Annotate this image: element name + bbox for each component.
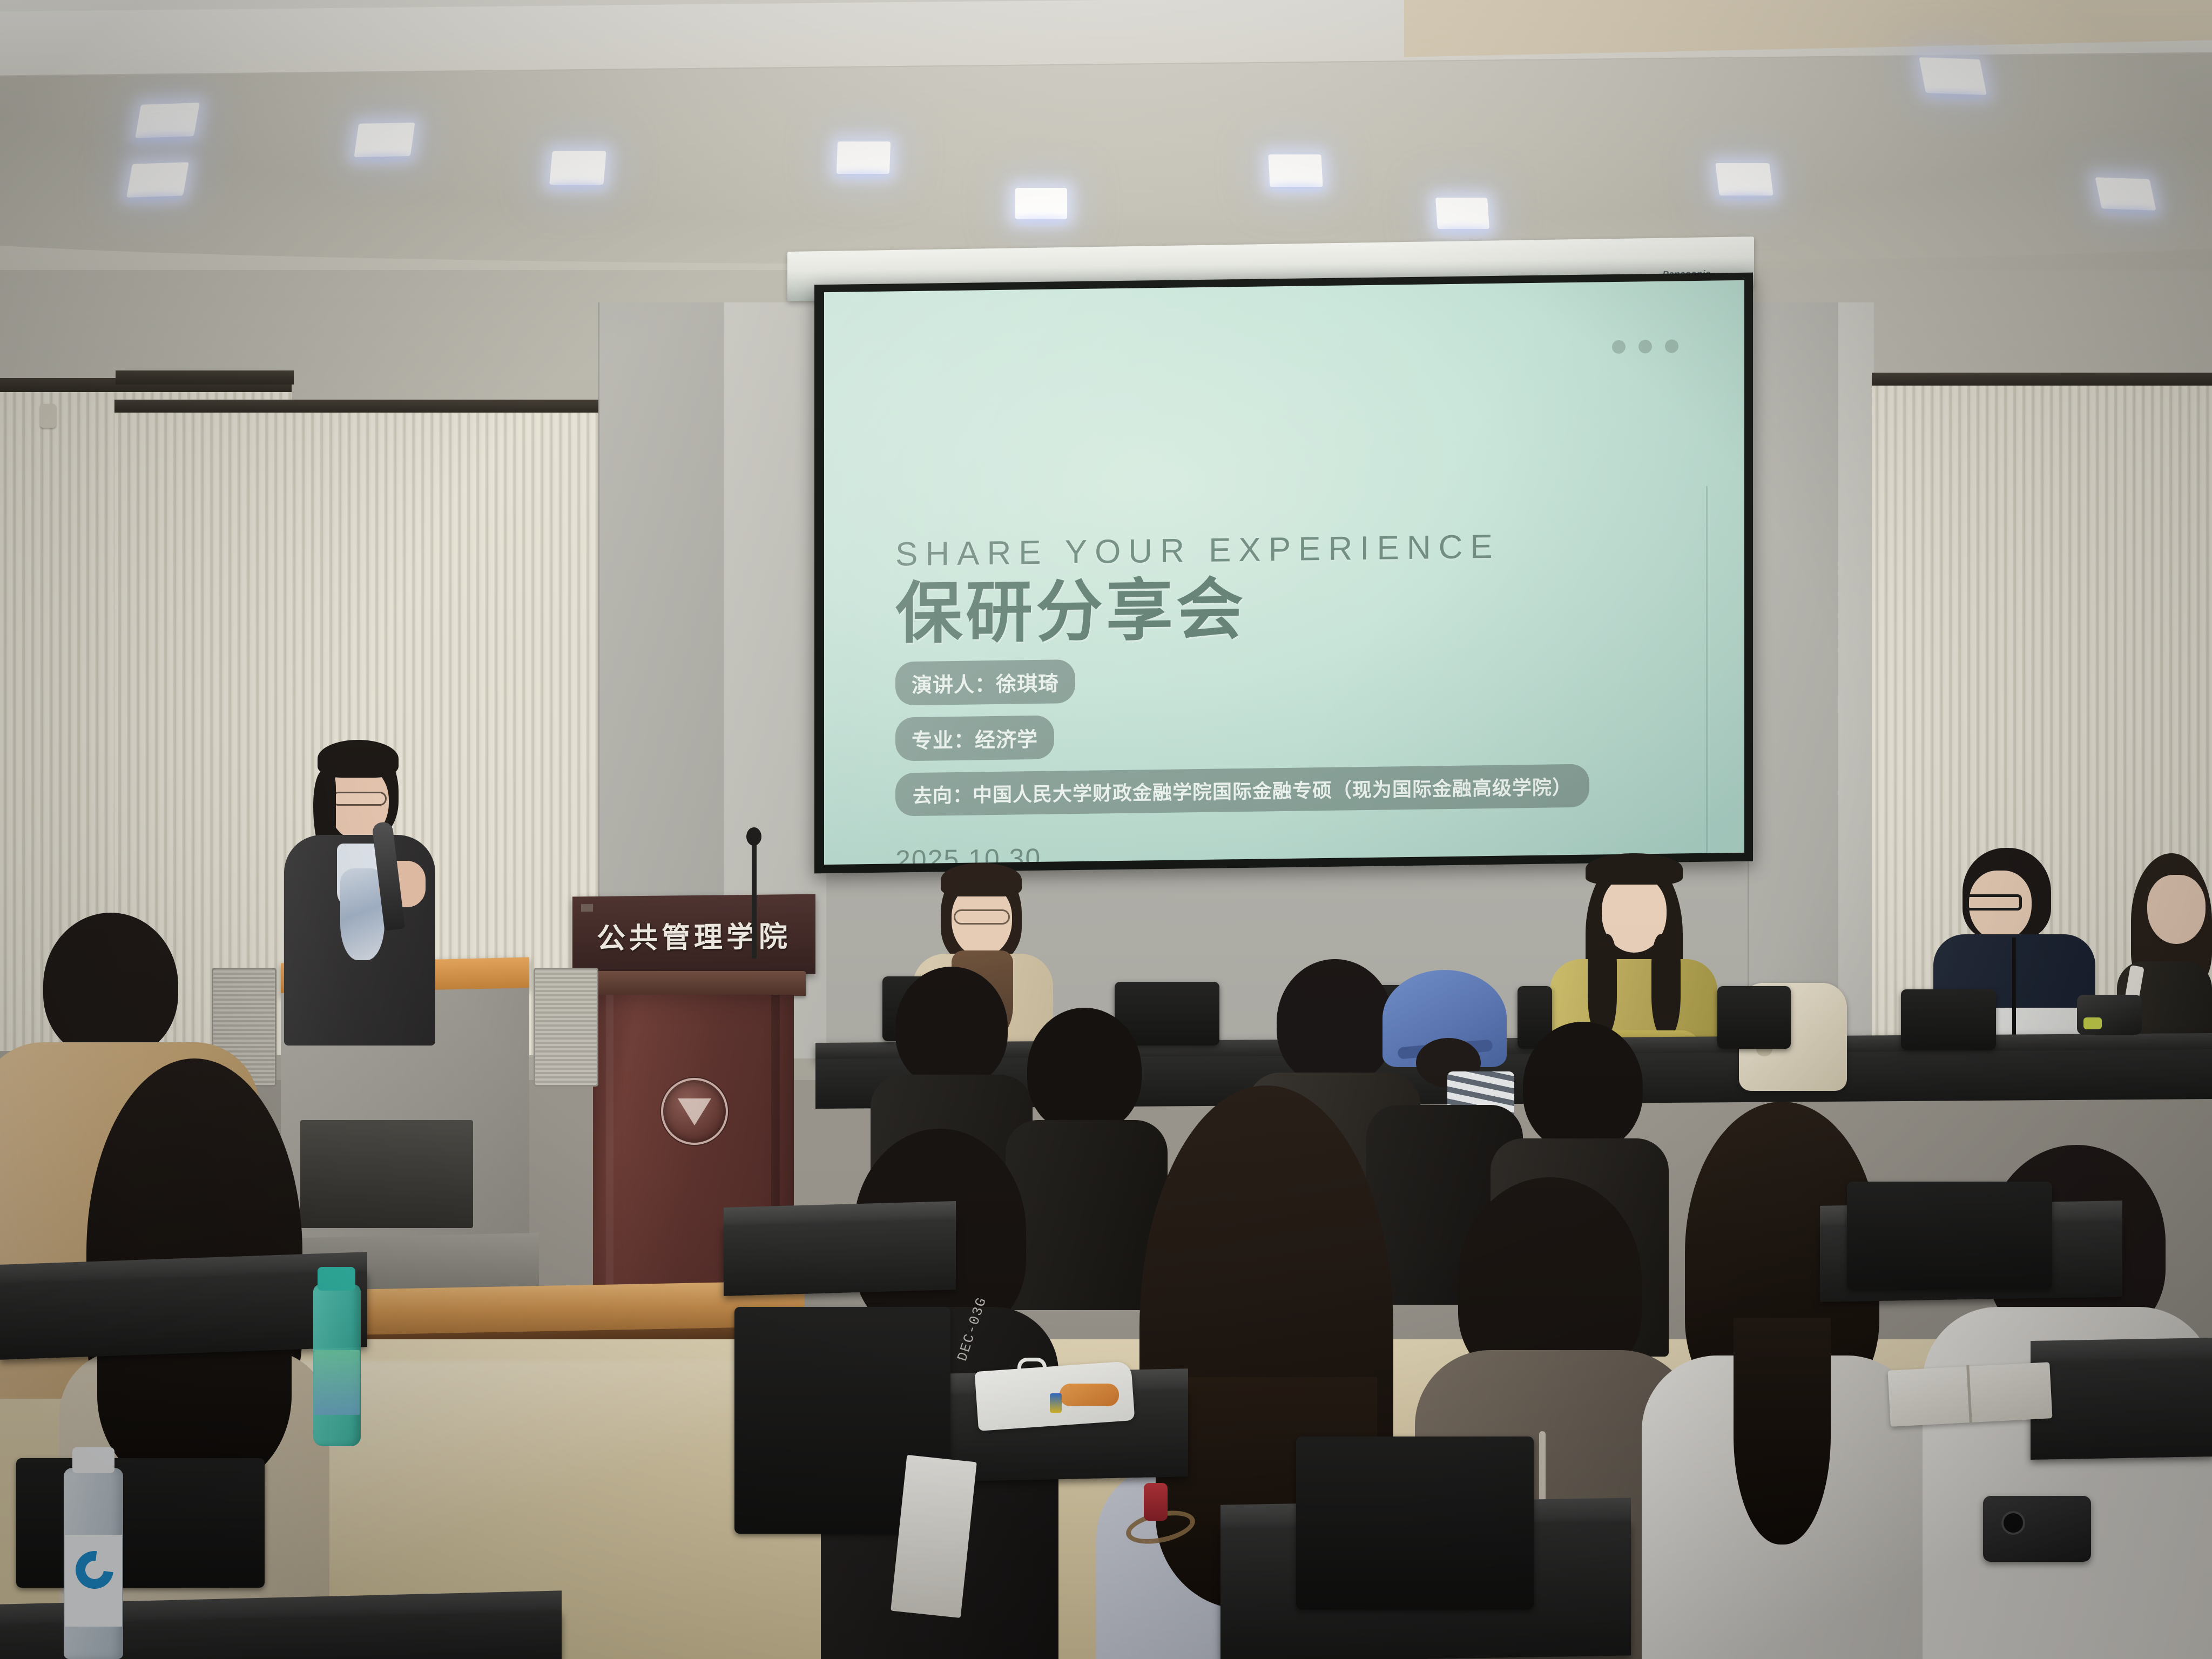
- presenter-scarf: [340, 868, 385, 960]
- slide-eyebrow: SHARE YOUR EXPERIENCE: [895, 525, 1651, 574]
- wall-panel-grey-c: [1748, 302, 1839, 1058]
- ceiling-light: [1268, 154, 1323, 187]
- slide-surface: SHARE YOUR EXPERIENCE 保研分享会 演讲人：徐琪琦 专业：经…: [824, 280, 1744, 865]
- desk-body: [0, 1271, 367, 1360]
- chair-back[interactable]: [1901, 989, 1996, 1050]
- bottle-cap: [72, 1447, 114, 1473]
- podium-top-ledge: [581, 971, 806, 996]
- slide-pill-speaker: 演讲人：徐琪琦: [895, 659, 1075, 705]
- chair-back[interactable]: [16, 1458, 265, 1588]
- bottle-cap: [318, 1267, 355, 1291]
- glasses-icon: [332, 792, 387, 806]
- glasses-icon: [1966, 894, 2022, 911]
- desk-body: [724, 1219, 956, 1296]
- device-object: [1983, 1496, 2091, 1562]
- ceiling-light: [135, 103, 200, 138]
- ceiling-light: [1435, 198, 1489, 229]
- ceiling-light: [126, 162, 189, 198]
- food-item: [1060, 1384, 1119, 1406]
- audience-head: [895, 967, 1008, 1088]
- ceiling-light: [2095, 177, 2156, 210]
- dot-icon: [1638, 340, 1652, 353]
- chair-back[interactable]: [1847, 1182, 2052, 1290]
- ceiling-light: [549, 151, 606, 185]
- wall-sign-text: 公共管理学院: [597, 914, 791, 957]
- panel-trim: [116, 370, 294, 385]
- slide-pill-destination: 去向：中国人民大学财政金融学院国际金融专硕（现为国际金融高级学院）: [895, 764, 1589, 817]
- panelist-left-hair-front: [941, 863, 1022, 896]
- slide-content: SHARE YOUR EXPERIENCE 保研分享会 演讲人：徐琪琦 专业：经…: [895, 525, 1651, 865]
- desk-body: [2031, 1359, 2212, 1460]
- presenter: [281, 740, 443, 1042]
- ceiling-light: [1715, 163, 1773, 195]
- bottle-label: [314, 1350, 360, 1415]
- small-red-object: [1144, 1483, 1168, 1521]
- podium-edge-highlight: [606, 995, 613, 1328]
- gooseneck-microphone: [752, 834, 757, 959]
- slide-dots-decoration: [1612, 339, 1678, 354]
- lectern-speaker-grille-right: [534, 968, 598, 1087]
- department-wall-sign: 公共管理学院: [572, 894, 815, 977]
- device-lens-icon: [2001, 1511, 2025, 1535]
- camera-accent: [2083, 1017, 2102, 1029]
- chair-back[interactable]: [1296, 1437, 1534, 1609]
- chair-back[interactable]: [1717, 986, 1791, 1049]
- glasses-icon: [954, 909, 1010, 925]
- ceiling-light: [354, 123, 415, 157]
- panelist-center-hair-front: [1586, 853, 1683, 885]
- gooseneck-microphone-head: [746, 827, 761, 846]
- audience-head: [43, 913, 178, 1058]
- food-bag-handle: [1017, 1358, 1047, 1372]
- projection-screen: SHARE YOUR EXPERIENCE 保研分享会 演讲人：徐琪琦 专业：经…: [814, 273, 1753, 874]
- panelist-far-right-face: [2147, 875, 2206, 944]
- slide-date: 2025.10.30: [895, 835, 1651, 865]
- ceiling-light: [1015, 188, 1067, 219]
- emblem-triangle: [678, 1098, 711, 1125]
- dot-icon: [1665, 339, 1678, 353]
- wall-sensor-icon: [40, 404, 56, 428]
- ponytail: [1734, 1318, 1831, 1545]
- ceiling-light: [1919, 57, 1987, 95]
- slide-pill-major: 专业：经济学: [895, 716, 1054, 761]
- slide-vertical-rule: [1706, 486, 1708, 864]
- university-emblem-icon: [661, 1078, 728, 1145]
- wall-panel-grey-d: [1838, 302, 1874, 1058]
- slide-headline: 保研分享会: [895, 569, 1651, 650]
- panel-trim: [114, 400, 601, 414]
- ceiling-light: [837, 141, 891, 174]
- lecture-hall-photo: Panasonic SHARE YOUR EXPERIENCE 保研分享会 演讲…: [0, 0, 2212, 1659]
- sign-chip: [581, 904, 593, 912]
- audience-head: [1523, 1022, 1643, 1151]
- food-bag-sticker: [1050, 1393, 1062, 1413]
- dot-icon: [1612, 340, 1626, 354]
- panel-trim: [1872, 373, 2212, 387]
